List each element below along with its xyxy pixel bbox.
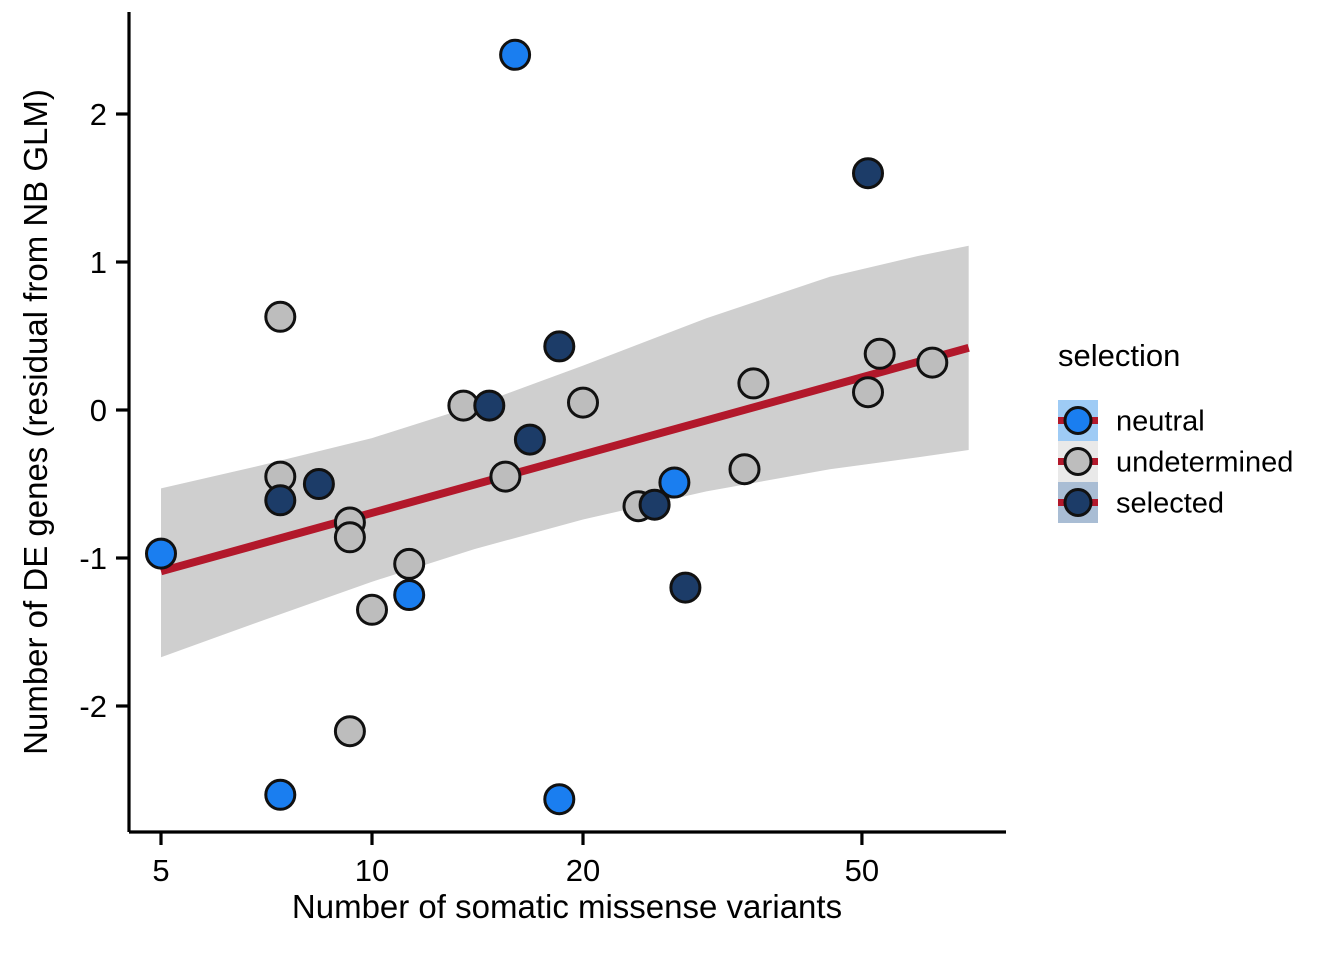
data-point bbox=[335, 523, 364, 552]
legend-key-point bbox=[1065, 490, 1091, 516]
x-tick-label: 50 bbox=[845, 853, 879, 888]
data-point bbox=[854, 378, 883, 407]
data-point bbox=[266, 302, 295, 331]
y-tick-label: -1 bbox=[79, 541, 107, 576]
legend-item-selected[interactable]: selected bbox=[1058, 482, 1224, 523]
legend-item-label: undetermined bbox=[1116, 447, 1293, 479]
data-point bbox=[395, 581, 424, 610]
y-tick-label: 0 bbox=[90, 393, 107, 428]
data-point bbox=[739, 369, 768, 398]
data-point bbox=[640, 490, 669, 519]
y-axis-ticks: 210-1-2 bbox=[79, 97, 129, 724]
legend-items[interactable]: neutralundeterminedselected bbox=[1058, 400, 1293, 523]
legend-title: selection bbox=[1058, 338, 1180, 373]
data-point bbox=[569, 388, 598, 417]
y-tick-label: 1 bbox=[90, 245, 107, 280]
data-point bbox=[266, 486, 295, 515]
x-axis-ticks: 5102050 bbox=[152, 832, 879, 888]
scatter-plot-figure: 210-1-2 Number of DE genes (residual fro… bbox=[0, 0, 1344, 960]
y-tick-label: 2 bbox=[90, 97, 107, 132]
y-axis-title: Number of DE genes (residual from NB GLM… bbox=[17, 89, 54, 755]
data-point bbox=[865, 339, 894, 368]
chart-canvas: 210-1-2 Number of DE genes (residual fro… bbox=[0, 0, 1344, 960]
data-point bbox=[545, 785, 574, 814]
data-point bbox=[475, 391, 504, 420]
x-tick-label: 5 bbox=[152, 853, 169, 888]
x-tick-label: 10 bbox=[355, 853, 389, 888]
legend-item-label: selected bbox=[1116, 488, 1224, 520]
data-point bbox=[545, 332, 574, 361]
legend-key-point bbox=[1065, 449, 1091, 475]
legend-item-label: neutral bbox=[1116, 406, 1205, 438]
legend-item-undetermined[interactable]: undetermined bbox=[1058, 441, 1293, 482]
data-point bbox=[501, 40, 530, 69]
x-axis-title: Number of somatic missense variants bbox=[292, 888, 842, 925]
data-point bbox=[395, 549, 424, 578]
data-point bbox=[266, 780, 295, 809]
data-point bbox=[854, 159, 883, 188]
x-tick-label: 20 bbox=[566, 853, 600, 888]
data-point bbox=[335, 717, 364, 746]
data-point bbox=[147, 539, 176, 568]
data-point bbox=[671, 573, 700, 602]
legend-item-neutral[interactable]: neutral bbox=[1058, 400, 1205, 441]
y-axis: 210-1-2 Number of DE genes (residual fro… bbox=[17, 12, 129, 832]
legend[interactable]: selection neutralundeterminedselected bbox=[1058, 338, 1293, 523]
legend-key-point bbox=[1065, 408, 1091, 434]
panel bbox=[147, 40, 969, 813]
data-point bbox=[358, 595, 387, 624]
data-point bbox=[515, 425, 544, 454]
data-point bbox=[918, 348, 947, 377]
x-axis: 5102050 Number of somatic missense varia… bbox=[129, 832, 1006, 925]
y-tick-label: -2 bbox=[79, 689, 107, 724]
data-point bbox=[491, 462, 520, 491]
data-point bbox=[304, 470, 333, 499]
data-point bbox=[730, 455, 759, 484]
